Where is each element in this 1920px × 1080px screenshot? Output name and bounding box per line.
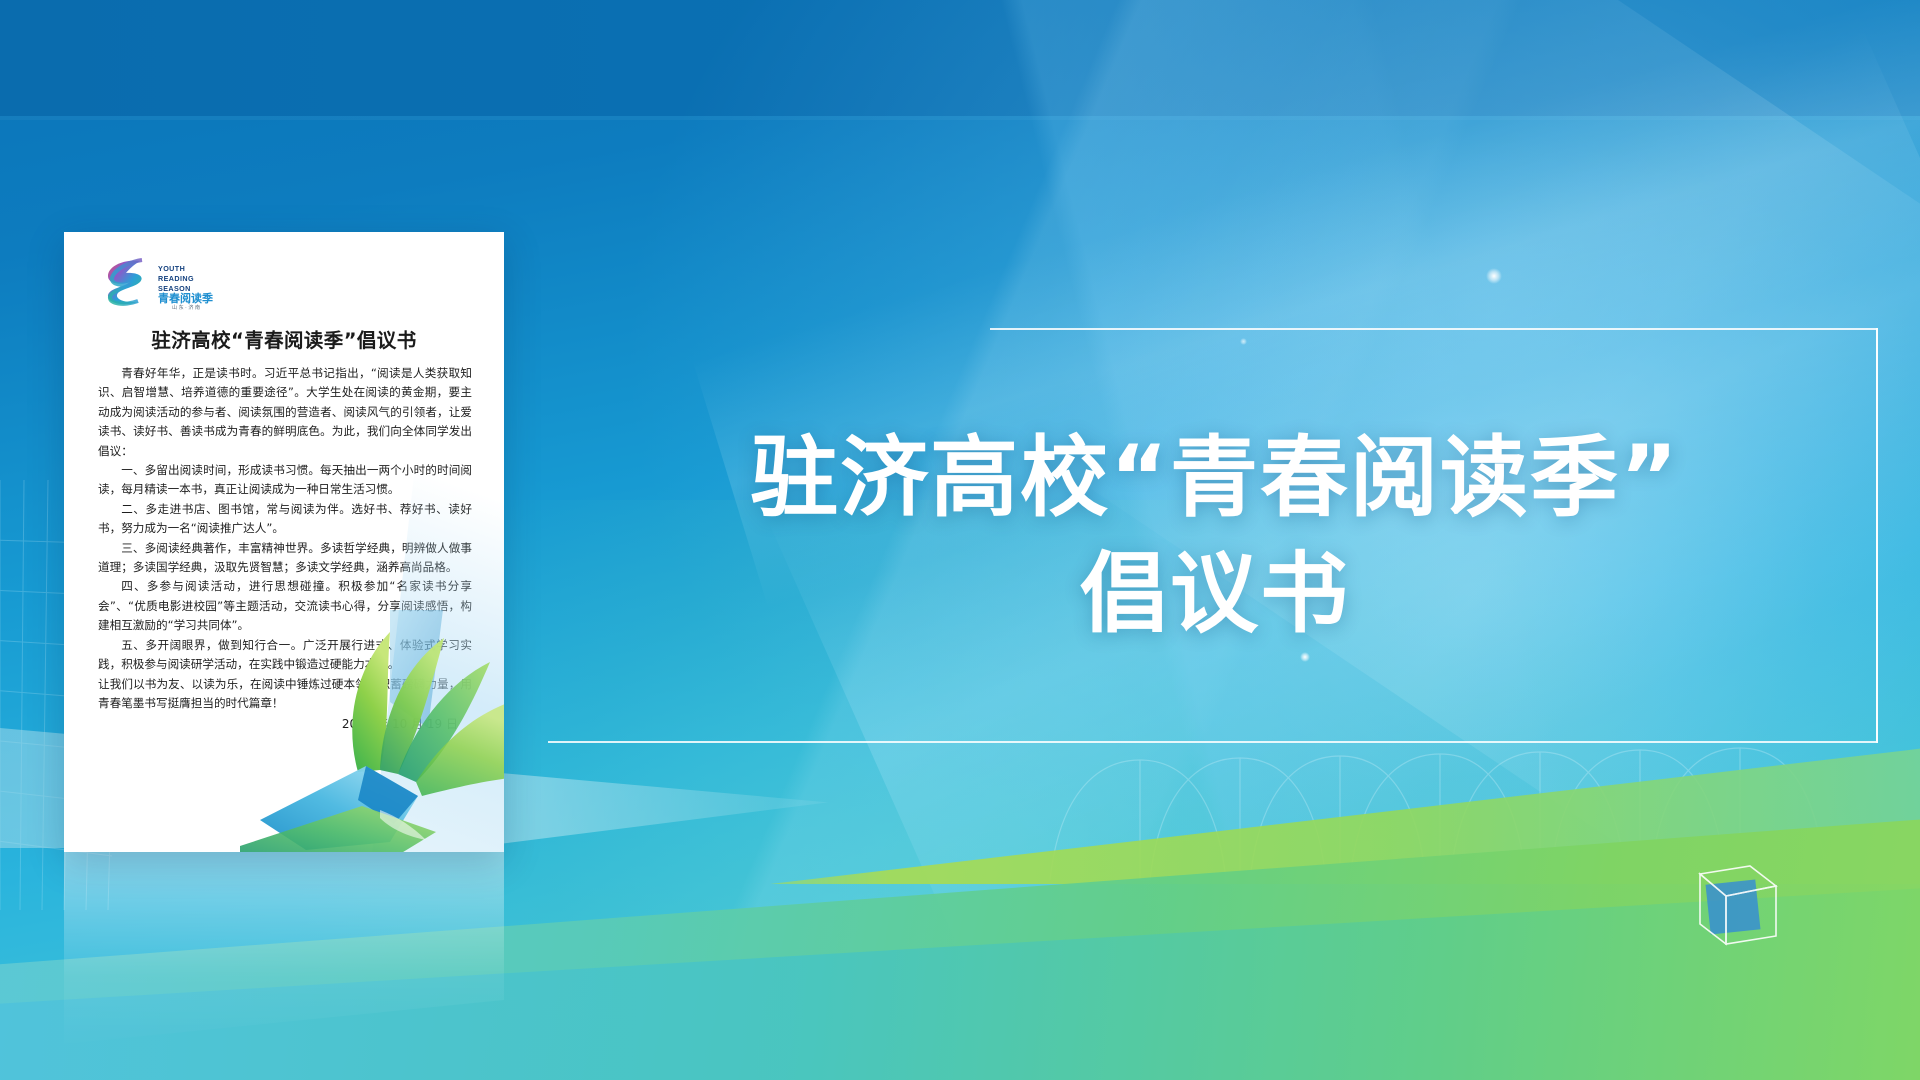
document-paragraph: 三、多阅读经典著作，丰富精神世界。多读哲学经典，明辨做人做事道理；多读国学经典，… (98, 539, 472, 578)
decorative-frame-top-line (990, 328, 1878, 330)
wireframe-cube-icon (1690, 852, 1786, 948)
document-title: 驻济高校“青春阅读季”倡议书 (64, 324, 504, 353)
svg-text:山 东 · 济 南: 山 东 · 济 南 (172, 304, 200, 310)
sparkle-dot-two (1300, 652, 1310, 662)
svg-text:READING: READING (158, 274, 194, 283)
main-title-line-1: 驻济高校“青春阅读季” (750, 426, 1680, 529)
document-paragraph: 一、多留出阅读时间，形成读书习惯。每天抽出一两个小时的时间阅读，每月精读一本书，… (98, 461, 472, 500)
youth-reading-season-logo: YOUTH READING SEASON 青春阅读季 山 东 · 济 南 (100, 254, 232, 310)
sparkle-dot-three (1240, 338, 1247, 345)
sparkle-dot-one (1486, 268, 1502, 284)
document-leaf-artwork (240, 610, 504, 852)
document-paragraph: 二、多走进书店、图书馆，常与阅读为伴。选好书、荐好书、读好书，努力成为一名“阅读… (98, 500, 472, 539)
poster-slide: YOUTH READING SEASON 青春阅读季 山 东 · 济 南 驻济高… (0, 0, 1920, 1080)
document-paragraph: 青春好年华，正是读书时。习近平总书记指出，“阅读是人类获取知识、启智增慧、培养道… (98, 364, 472, 461)
decorative-frame-right-line (1876, 328, 1878, 743)
svg-text:YOUTH: YOUTH (158, 264, 185, 273)
main-title-line-2: 倡议书 (560, 536, 1870, 652)
document-card[interactable]: YOUTH READING SEASON 青春阅读季 山 东 · 济 南 驻济高… (64, 232, 504, 852)
svg-text:青春阅读季: 青春阅读季 (158, 291, 214, 305)
main-title: 驻济高校“青春阅读季” 倡议书 (560, 420, 1870, 652)
